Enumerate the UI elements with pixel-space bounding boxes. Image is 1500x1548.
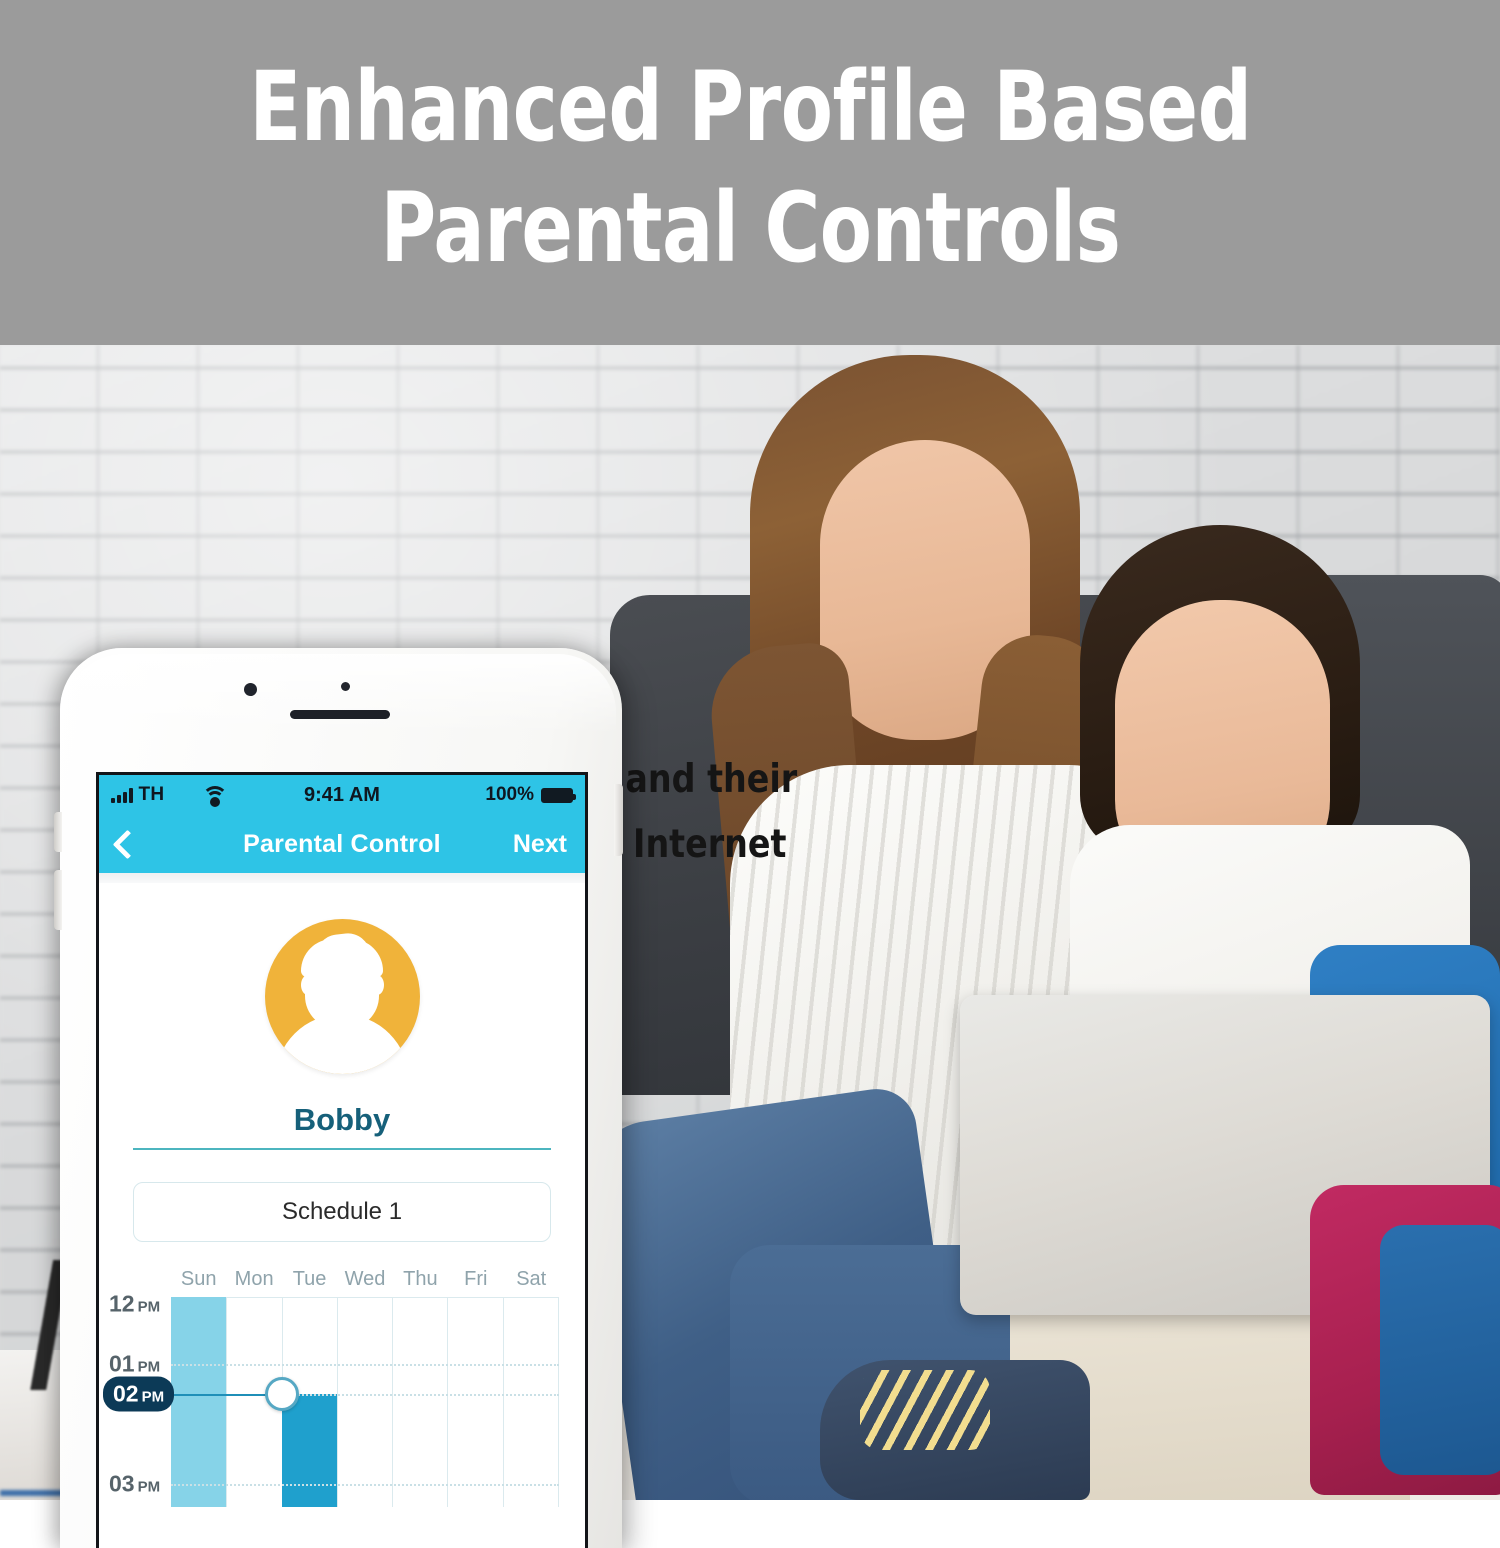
schedule-selector-label: Schedule 1: [282, 1198, 402, 1226]
day-header-tue: Tue: [282, 1268, 337, 1291]
nav-bar: Parental Control Next: [99, 815, 585, 873]
front-camera-icon: [244, 683, 257, 696]
headline-banner: Enhanced Profile Based Parental Controls: [0, 0, 1500, 345]
day-header-thu: Thu: [393, 1268, 448, 1291]
volume-down-button[interactable]: [54, 870, 62, 930]
proximity-sensor-icon: [341, 682, 350, 691]
schedule-grid-body[interactable]: 12PM 01PM 02PM 03PM: [109, 1297, 559, 1507]
day-header-fri: Fri: [448, 1268, 503, 1291]
avatar-container: [99, 919, 585, 1074]
status-bar: TH 9:41 AM 100%: [99, 775, 585, 815]
phone-screen: TH 9:41 AM 100% Parental Control Next: [96, 772, 588, 1548]
day-header-sun: Sun: [171, 1268, 226, 1291]
headline-line-1: Enhanced Profile Based: [249, 47, 1251, 168]
hour-label-01pm: 01PM: [109, 1351, 160, 1378]
boy-avatar-icon[interactable]: [265, 919, 420, 1074]
signal-bars-icon: [111, 787, 133, 803]
schedule-block-tue[interactable]: [282, 1394, 337, 1507]
wifi-icon: [204, 787, 226, 803]
day-header-wed: Wed: [337, 1268, 392, 1291]
profile-name-underline: [133, 1148, 551, 1150]
day-header-mon: Mon: [226, 1268, 281, 1291]
next-button[interactable]: Next: [513, 830, 567, 859]
hour-label-02pm: 02PM: [103, 1377, 174, 1412]
hour-label-column: 12PM 01PM 02PM 03PM: [109, 1297, 171, 1507]
hour-label-12pm: 12PM: [109, 1291, 160, 1318]
power-button[interactable]: [614, 784, 623, 856]
profile-name-value: Bobby: [294, 1102, 390, 1148]
grid-columns: [171, 1297, 559, 1507]
volume-up-button[interactable]: [54, 812, 62, 852]
battery-full-icon: [541, 788, 573, 803]
slider-handle-icon[interactable]: [265, 1377, 299, 1411]
carrier-label: TH: [139, 784, 165, 806]
phone-bezel-highlight: [66, 654, 616, 734]
schedule-selector-button[interactable]: Schedule 1: [133, 1182, 551, 1242]
earpiece-speaker: [290, 710, 390, 719]
headline-line-2: Parental Controls: [380, 168, 1120, 289]
screen-content: Bobby Schedule 1 Sun Mon Tue Wed Thu Fri…: [99, 873, 585, 1548]
shoe-laces: [860, 1370, 990, 1450]
status-bar-left: TH: [111, 784, 226, 806]
content-divider: [99, 873, 585, 883]
hour-label-03pm: 03PM: [109, 1471, 160, 1498]
status-bar-right: 100%: [485, 784, 573, 806]
profile-name-field[interactable]: Bobby: [133, 1102, 551, 1150]
battery-percent-label: 100%: [485, 784, 534, 806]
day-header-sat: Sat: [504, 1268, 559, 1291]
gridline-01pm: [171, 1364, 559, 1366]
chevron-left-icon[interactable]: [113, 829, 143, 859]
schedule-block-sun[interactable]: [171, 1297, 226, 1507]
gridline-03pm: [171, 1484, 559, 1486]
schedule-grid[interactable]: Sun Mon Tue Wed Thu Fri Sat: [109, 1268, 559, 1507]
backpack-blue-panel: [1380, 1225, 1500, 1475]
day-header-row: Sun Mon Tue Wed Thu Fri Sat: [109, 1268, 559, 1291]
